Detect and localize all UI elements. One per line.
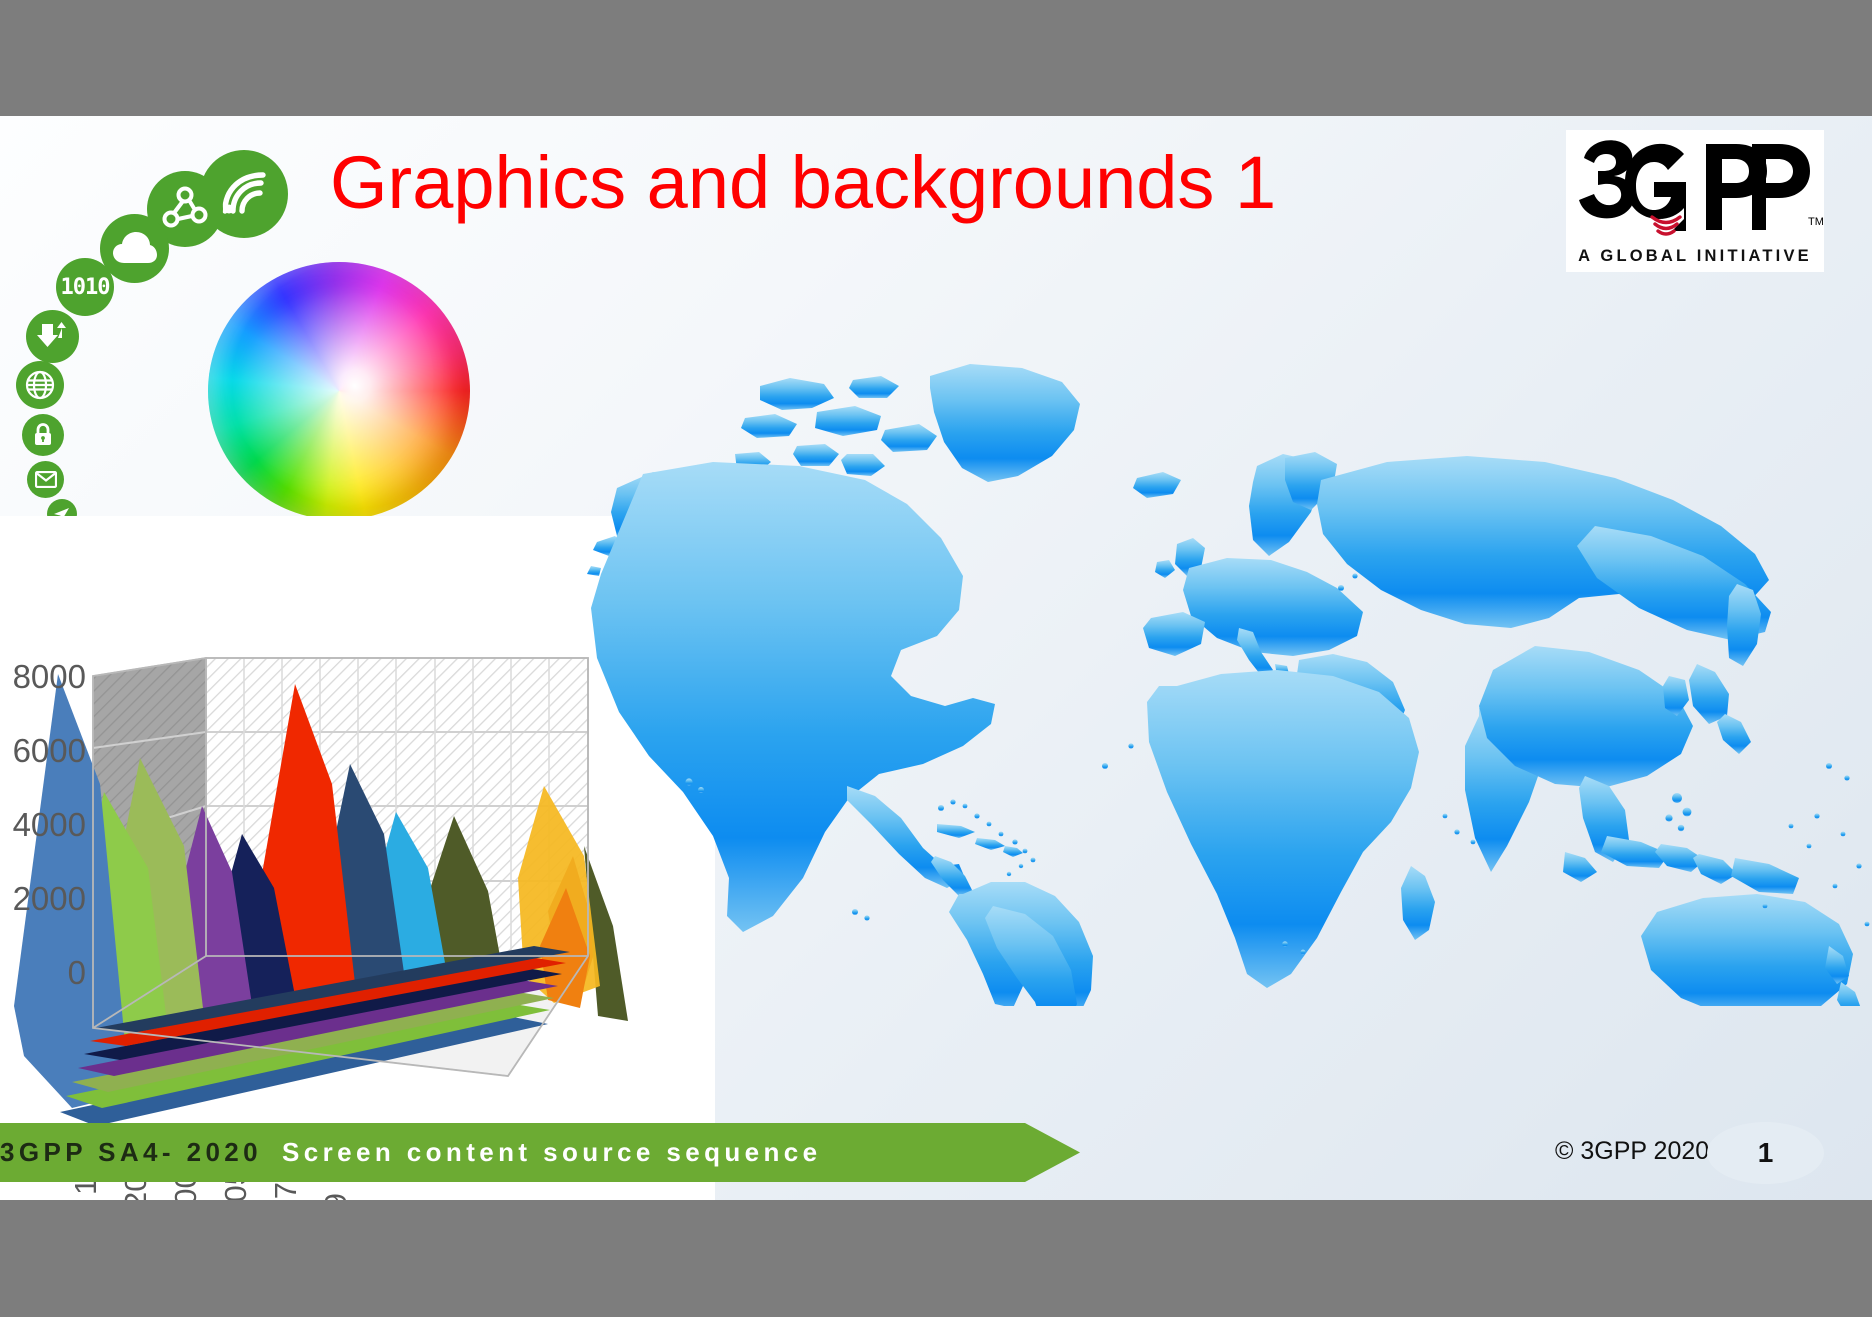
- trademark-symbol: TM: [1808, 216, 1824, 228]
- copyright-label: © 3GPP 2020: [1555, 1137, 1709, 1166]
- logo-3gpp: TM A GLOBAL INITIATIVE: [1566, 130, 1824, 272]
- page-number: 1: [1758, 1137, 1774, 1169]
- svg-text:0: 0: [68, 954, 86, 991]
- svg-text:6000: 6000: [13, 732, 86, 769]
- svg-text:8000: 8000: [13, 658, 86, 695]
- svg-text:2007: 2007: [268, 1182, 303, 1200]
- upload-download-icon: [26, 310, 79, 363]
- svg-text:2009: 2009: [318, 1193, 353, 1200]
- color-wheel: [208, 262, 470, 520]
- logo-wordmark-icon: TM: [1566, 132, 1824, 236]
- binary-data-icon: 1010: [56, 258, 114, 316]
- globe-icon: [16, 361, 64, 409]
- svg-text:2000: 2000: [13, 880, 86, 917]
- letterbox-top: [0, 0, 1872, 116]
- logo-tagline: A GLOBAL INITIATIVE: [1566, 247, 1824, 266]
- screenshot-stage: Graphics and backgrounds 1: [0, 0, 1872, 1317]
- footer-subject-label: Screen content source sequence: [282, 1137, 821, 1168]
- footer-meeting-label: 3GPP SA4- 2020: [0, 1137, 262, 1168]
- page-number-badge: 1: [1707, 1122, 1824, 1184]
- world-map: [585, 346, 1872, 1006]
- letterbox-bottom: [0, 1200, 1872, 1317]
- lock-icon: [22, 414, 64, 456]
- world-map-icon: [585, 346, 1872, 1006]
- slide-canvas: Graphics and backgrounds 1: [0, 116, 1872, 1200]
- svg-text:4000: 4000: [13, 806, 86, 843]
- envelope-icon: [27, 461, 64, 498]
- page-title: Graphics and backgrounds 1: [330, 146, 1530, 220]
- footer-bar: 3GPP SA4- 2020 Screen content source seq…: [0, 1123, 1080, 1182]
